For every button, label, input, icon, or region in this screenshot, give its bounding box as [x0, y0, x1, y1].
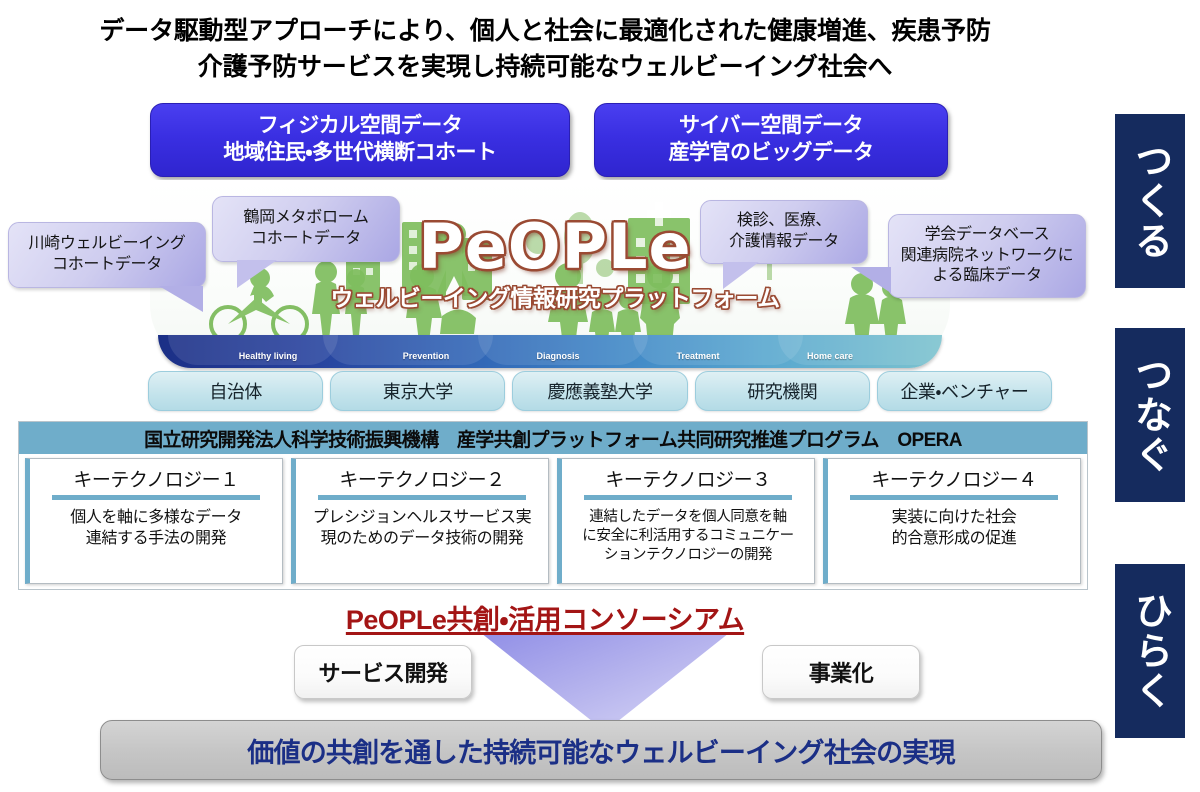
callout-tail-icon — [159, 286, 203, 312]
output-box-commercialization: 事業化 — [762, 645, 920, 699]
title-line-2: 介護予防サービスを実現し持続可能なウェルビーイング社会へ — [0, 50, 1090, 86]
callout-tsuruoka-metabolome: 鶴岡メタボローム コホートデータ — [212, 196, 400, 262]
key-technology-card-3[interactable]: キーテクノロジー３ 連結したデータを個人同意を軸 に安全に利活用するコミュニケー… — [557, 458, 815, 584]
stage-label-diagnosis: Diagnosis — [536, 351, 579, 361]
partner-pill-research-institute[interactable]: 研究機関 — [695, 371, 870, 411]
source-box-cyber-line-1: サイバー空間データ — [669, 113, 874, 140]
stage-label-home-care: Home care — [807, 351, 853, 361]
page-title: データ駆動型アプローチにより、個人と社会に最適化された健康増進、疾患予防 介護予… — [0, 14, 1090, 85]
callout-academic-database: 学会データベース 関連病院ネットワークに よる臨床データ — [888, 214, 1086, 298]
key-technology-body-1: 個人を軸に多様なデータ 連結する手法の開発 — [70, 508, 242, 550]
callout-medical-line-2: 介護情報データ — [729, 232, 839, 253]
callout-kawasaki-line-2: コホートデータ — [28, 255, 185, 276]
opera-panel: 国立研究開発法人科学技術振興機構 産学共創プラットフォーム共同研究推進プログラム… — [18, 421, 1088, 590]
key-technology-card-4[interactable]: キーテクノロジー４ 実装に向けた社会 的合意形成の促進 — [823, 458, 1081, 584]
infographic-canvas: データ駆動型アプローチにより、個人と社会に最適化された健康増進、疾患予防 介護予… — [0, 0, 1200, 792]
key-technology-card-1[interactable]: キーテクノロジー１ 個人を軸に多様なデータ 連結する手法の開発 — [25, 458, 283, 584]
callout-academic-line-1: 学会データベース — [901, 225, 1074, 246]
stage-label-healthy-living: Healthy living — [239, 351, 298, 361]
title-line-1: データ駆動型アプローチにより、個人と社会に最適化された健康増進、疾患予防 — [0, 14, 1090, 50]
output-box-service-development: サービス開発 — [294, 645, 472, 699]
partner-pill-companies-ventures[interactable]: 企業・ベンチャー — [877, 371, 1052, 411]
key-technology-title-1: キーテクノロジー１ — [73, 465, 238, 492]
vertical-banner-tsukuru: つくる — [1115, 114, 1185, 288]
key-technology-row: キーテクノロジー１ 個人を軸に多様なデータ 連結する手法の開発 キーテクノロジー… — [25, 458, 1081, 584]
partner-pill-keio[interactable]: 慶應義塾大学 — [512, 371, 687, 411]
callout-kawasaki-line-1: 川崎ウェルビーイング — [28, 234, 185, 255]
vertical-banner-hiraku: ひらく — [1115, 564, 1185, 738]
stage-label-treatment: Treatment — [676, 351, 719, 361]
stage-label-prevention: Prevention — [403, 351, 450, 361]
key-technology-rule — [850, 495, 1058, 500]
source-box-physical: フィジカル空間データ 地域住民・多世代横断コホート — [150, 103, 570, 177]
callout-academic-line-3: よる臨床データ — [901, 266, 1074, 287]
key-technology-title-4: キーテクノロジー４ — [871, 465, 1036, 492]
key-technology-body-2: プレシジョンヘルスサービス実 現のためのデータ技術の開発 — [313, 508, 531, 550]
key-technology-title-2: キーテクノロジー２ — [339, 465, 504, 492]
callout-medical-care-data: 検診、医療、 介護情報データ — [700, 200, 868, 264]
callout-tail-icon — [237, 260, 277, 288]
key-technology-body-4: 実装に向けた社会 的合意形成の促進 — [892, 508, 1017, 550]
key-technology-title-3: キーテクノロジー３ — [605, 465, 770, 492]
partner-pill-local-government[interactable]: 自治体 — [148, 371, 323, 411]
vertical-banner-tsunagu: つなぐ — [1115, 328, 1185, 502]
callout-tsuruoka-line-1: 鶴岡メタボローム — [243, 208, 368, 229]
goal-bar: 価値の共創を通した持続可能なウェルビーイング社会の実現 — [100, 720, 1102, 780]
opera-header: 国立研究開発法人科学技術振興機構 産学共創プラットフォーム共同研究推進プログラム… — [19, 422, 1087, 454]
callout-medical-line-1: 検診、医療、 — [729, 211, 839, 232]
partner-pill-row: 自治体 東京大学 慶應義塾大学 研究機関 企業・ベンチャー — [148, 371, 1052, 411]
lifecycle-band: Healthy living Prevention Diagnosis Trea… — [158, 335, 942, 368]
key-technology-rule — [52, 495, 260, 500]
source-box-cyber-line-2: 産学官のビッグデータ — [669, 140, 874, 167]
partner-pill-univ-tokyo[interactable]: 東京大学 — [330, 371, 505, 411]
source-box-physical-line-2: 地域住民・多世代横断コホート — [223, 140, 496, 167]
source-box-cyber: サイバー空間データ 産学官のビッグデータ — [594, 103, 948, 177]
key-technology-rule — [318, 495, 526, 500]
source-box-physical-line-1: フィジカル空間データ — [223, 113, 496, 140]
key-technology-rule — [584, 495, 792, 500]
callout-kawasaki-cohort: 川崎ウェルビーイング コホートデータ — [8, 222, 206, 288]
callout-academic-line-2: 関連病院ネットワークに — [901, 246, 1074, 267]
callout-tsuruoka-line-2: コホートデータ — [243, 229, 368, 250]
key-technology-card-2[interactable]: キーテクノロジー２ プレシジョンヘルスサービス実 現のためのデータ技術の開発 — [291, 458, 549, 584]
consortium-title: PeOPLe共創・活用コンソーシアム — [0, 598, 1090, 637]
callout-tail-icon — [851, 267, 891, 293]
callout-tail-icon — [723, 262, 759, 289]
key-technology-body-3: 連結したデータを個人同意を軸 に安全に利活用するコミュニケー ションテクノロジー… — [582, 508, 794, 565]
